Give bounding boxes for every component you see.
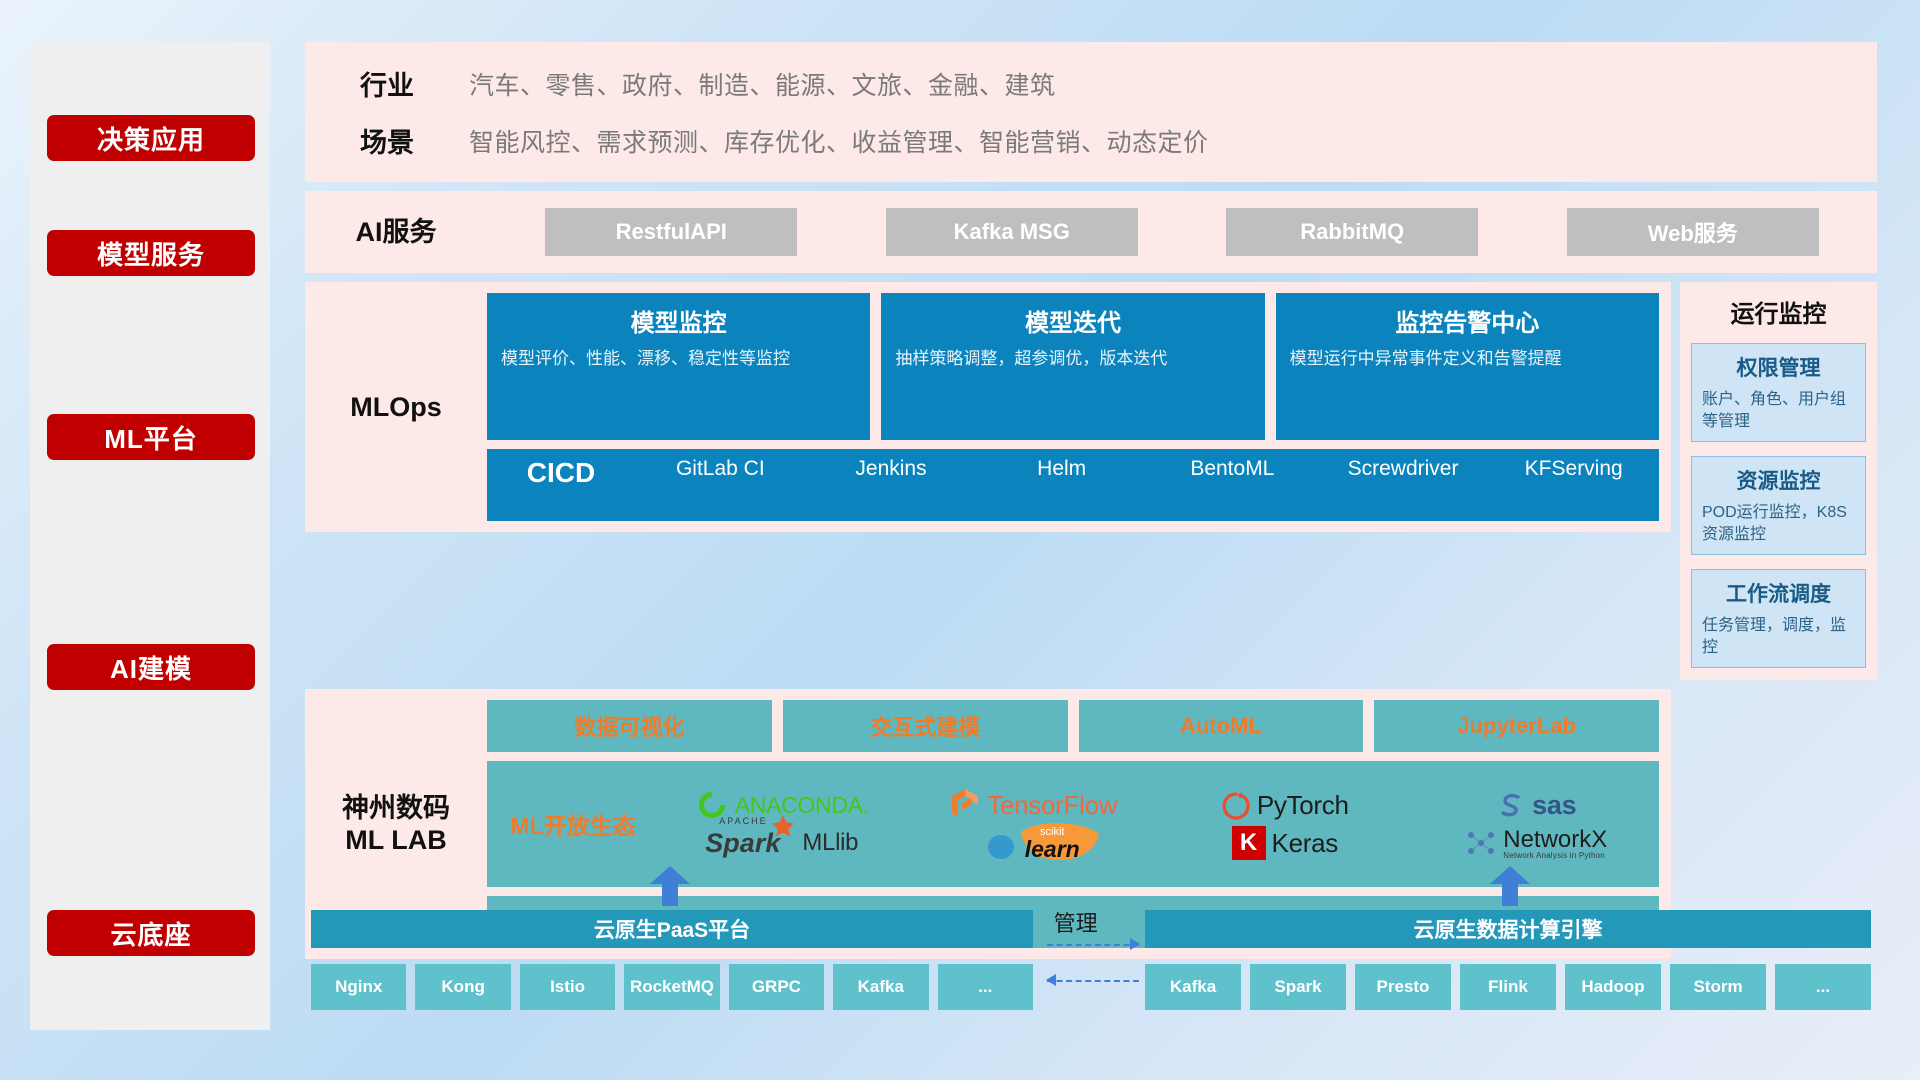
monitor-card-workflow[interactable]: 工作流调度 任务管理，调度，监控 xyxy=(1691,569,1866,668)
compute-chip-presto[interactable]: Presto xyxy=(1355,964,1451,1010)
arrow-up-paas-icon xyxy=(650,866,690,906)
card-title: 模型迭代 xyxy=(895,303,1250,338)
monitor-card-resource[interactable]: 资源监控 POD运行监控，K8S资源监控 xyxy=(1691,456,1866,555)
rail-tag-ml-platform[interactable]: ML平台 xyxy=(47,414,255,460)
architecture-diagram: 决策应用 模型服务 ML平台 AI建模 云底座 行业 汽车、零售、政府、制造、能… xyxy=(0,0,1920,1080)
card-title: 权限管理 xyxy=(1702,352,1855,382)
dashed-arrow-right-icon xyxy=(1130,938,1140,950)
compute-chip-more[interactable]: ... xyxy=(1775,964,1871,1010)
rail-tag-cloud-base[interactable]: 云底座 xyxy=(47,910,255,956)
service-chip-label: RabbitMQ xyxy=(1300,219,1404,245)
ai-service-band: AI服务 RestfulAPI Kafka MSG RabbitMQ Web服务 xyxy=(305,191,1877,273)
industry-key: 行业 xyxy=(305,64,469,103)
cicd-tool-screwdriver[interactable]: Screwdriver xyxy=(1318,457,1489,482)
keras-wordmark: Keras xyxy=(1272,828,1338,859)
sas-logo: sas xyxy=(1496,790,1576,821)
tensorflow-logo: TensorFlow xyxy=(949,787,1117,823)
sas-mark-icon xyxy=(1496,790,1526,820)
rail-tag-decision-app[interactable]: 决策应用 xyxy=(47,115,255,161)
compute-chip-spark[interactable]: Spark xyxy=(1250,964,1346,1010)
scenario-key: 场景 xyxy=(305,121,469,160)
rail-tag-label: 云底座 xyxy=(110,915,191,952)
main-column: 行业 汽车、零售、政府、制造、能源、文旅、金融、建筑 场景 智能风控、需求预测、… xyxy=(305,42,1877,959)
anaconda-wordmark: ANACONDA. xyxy=(735,792,869,819)
paas-compute-link xyxy=(1047,934,1139,994)
paas-chip-more[interactable]: ... xyxy=(938,964,1033,1010)
tensorflow-wordmark: TensorFlow xyxy=(987,790,1117,821)
paas-chips: Nginx Kong Istio RocketMQ GRPC Kafka ... xyxy=(311,964,1033,1010)
paas-title-bar: 云原生PaaS平台 xyxy=(311,910,1033,948)
dashed-line-right xyxy=(1047,944,1139,946)
cloud-base-layer: 云原生PaaS平台 Nginx Kong Istio RocketMQ GRPC… xyxy=(305,888,1877,1030)
learn-wordmark: learn xyxy=(1025,838,1080,861)
runtime-monitoring-title: 运行监控 xyxy=(1691,294,1866,329)
scenario-values: 智能风控、需求预测、库存优化、收益管理、智能营销、动态定价 xyxy=(469,123,1209,159)
paas-chip-nginx[interactable]: Nginx xyxy=(311,964,406,1010)
tab-data-visualization[interactable]: 数据可视化 xyxy=(487,700,772,752)
paas-column: 云原生PaaS平台 Nginx Kong Istio RocketMQ GRPC… xyxy=(311,910,1033,1010)
rail-tag-label: ML平台 xyxy=(104,419,198,456)
cicd-tool-kfserving[interactable]: KFServing xyxy=(1488,457,1659,482)
spark-mllib-logo: APACHE Spark MLlib xyxy=(705,828,858,859)
tab-interactive-modeling[interactable]: 交互式建模 xyxy=(783,700,1068,752)
card-desc: 模型运行中异常事件定义和告警提醒 xyxy=(1290,347,1645,371)
mlops-label: MLOps xyxy=(305,293,487,521)
rail-tag-label: 模型服务 xyxy=(97,235,205,272)
paas-chip-kafka[interactable]: Kafka xyxy=(833,964,928,1010)
runtime-monitoring-column: 运行监控 权限管理 账户、角色、用户组等管理 资源监控 POD运行监控，K8S资… xyxy=(1680,282,1877,680)
cicd-tool-helm[interactable]: Helm xyxy=(976,457,1147,482)
ml-open-ecosystem-label: ML开放生态 xyxy=(487,807,659,841)
mlops-card-model-iteration[interactable]: 模型迭代 抽样策略调整，超参调优，版本迭代 xyxy=(881,293,1264,440)
paas-chip-kong[interactable]: Kong xyxy=(415,964,510,1010)
mlops-card-alert-center[interactable]: 监控告警中心 模型运行中异常事件定义和告警提醒 xyxy=(1276,293,1659,440)
cicd-heading: CICD xyxy=(487,457,635,489)
mlops-row: MLOps 模型监控 模型评价、性能、漂移、稳定性等监控 模型迭代 抽样策略调整… xyxy=(305,282,1877,680)
compute-chip-kafka[interactable]: Kafka xyxy=(1145,964,1241,1010)
decision-rows: 行业 汽车、零售、政府、制造、能源、文旅、金融、建筑 场景 智能风控、需求预测、… xyxy=(305,42,1877,182)
mlops-content: 模型监控 模型评价、性能、漂移、稳定性等监控 模型迭代 抽样策略调整，超参调优，… xyxy=(487,293,1671,521)
card-title: 监控告警中心 xyxy=(1290,303,1645,338)
mllib-wordmark: MLlib xyxy=(802,829,858,857)
cicd-tool-bentoml[interactable]: BentoML xyxy=(1147,457,1318,482)
pytorch-flame-icon xyxy=(1221,788,1251,822)
paas-chip-grpc[interactable]: GRPC xyxy=(729,964,824,1010)
compute-chips: Kafka Spark Presto Flink Hadoop Storm ..… xyxy=(1145,964,1871,1010)
card-desc: 任务管理，调度，监控 xyxy=(1702,615,1855,659)
scenario-row: 场景 智能风控、需求预测、库存优化、收益管理、智能营销、动态定价 xyxy=(305,121,1859,160)
networkx-logo: NetworkX Network Analysis in Python xyxy=(1465,827,1607,861)
ml-lab-tabs: 数据可视化 交互式建模 AutoML JupyterLab xyxy=(487,700,1659,752)
tensorflow-mark-icon xyxy=(949,787,981,823)
cicd-tool-jenkins[interactable]: Jenkins xyxy=(806,457,977,482)
dashed-line-left xyxy=(1047,980,1139,982)
decision-application-band: 行业 汽车、零售、政府、制造、能源、文旅、金融、建筑 场景 智能风控、需求预测、… xyxy=(305,42,1877,182)
networkx-tagline: Network Analysis in Python xyxy=(1503,852,1607,860)
service-chip-restfulapi[interactable]: RestfulAPI xyxy=(545,208,797,256)
service-chip-web-service[interactable]: Web服务 xyxy=(1567,208,1819,256)
card-title: 模型监控 xyxy=(501,303,856,338)
networkx-wordmark: NetworkX xyxy=(1503,827,1607,852)
service-chip-label: RestfulAPI xyxy=(616,219,727,245)
ai-service-items: RestfulAPI Kafka MSG RabbitMQ Web服务 xyxy=(487,208,1877,256)
keras-mark-icon: K xyxy=(1232,826,1266,860)
rail-tag-model-service[interactable]: 模型服务 xyxy=(47,230,255,276)
card-desc: POD运行监控，K8S资源监控 xyxy=(1702,502,1855,546)
cicd-strip: CICD GitLab CI Jenkins Helm BentoML Scre… xyxy=(487,449,1659,521)
ecosystem-logo-grid: ANACONDA. TensorFlow xyxy=(659,787,1659,861)
service-chip-label: Web服务 xyxy=(1648,216,1738,248)
card-title: 工作流调度 xyxy=(1702,578,1855,608)
industry-row: 行业 汽车、零售、政府、制造、能源、文旅、金融、建筑 xyxy=(305,64,1859,103)
monitor-card-permission[interactable]: 权限管理 账户、角色、用户组等管理 xyxy=(1691,343,1866,442)
dashed-arrow-left-icon xyxy=(1046,974,1056,986)
runtime-monitoring-cards: 权限管理 账户、角色、用户组等管理 资源监控 POD运行监控，K8S资源监控 工… xyxy=(1691,343,1866,668)
tab-jupyterlab[interactable]: JupyterLab xyxy=(1374,700,1659,752)
scikit-learn-logo: scikit learn xyxy=(987,825,1080,861)
tab-automl[interactable]: AutoML xyxy=(1079,700,1364,752)
service-chip-kafka-msg[interactable]: Kafka MSG xyxy=(886,208,1138,256)
rail-tag-label: 决策应用 xyxy=(97,120,205,157)
ml-lab-label-line2: ML LAB xyxy=(345,824,447,857)
service-chip-rabbitmq[interactable]: RabbitMQ xyxy=(1226,208,1478,256)
keras-logo: K Keras xyxy=(1232,826,1338,860)
paas-chip-istio[interactable]: Istio xyxy=(520,964,615,1010)
rail-tag-ai-modeling[interactable]: AI建模 xyxy=(47,644,255,690)
cicd-tools: GitLab CI Jenkins Helm BentoML Screwdriv… xyxy=(635,457,1659,482)
sas-wordmark: sas xyxy=(1532,790,1576,821)
layer-rail: 决策应用 模型服务 ML平台 AI建模 云底座 xyxy=(30,42,270,1030)
industry-values: 汽车、零售、政府、制造、能源、文旅、金融、建筑 xyxy=(469,66,1056,102)
spark-wordmark: Spark xyxy=(705,828,780,858)
card-title: 资源监控 xyxy=(1702,465,1855,495)
pytorch-wordmark: PyTorch xyxy=(1257,790,1349,821)
spark-star-icon xyxy=(770,814,796,840)
mlops-card-model-monitoring[interactable]: 模型监控 模型评价、性能、漂移、稳定性等监控 xyxy=(487,293,870,440)
card-desc: 抽样策略调整，超参调优，版本迭代 xyxy=(895,347,1250,371)
card-desc: 账户、角色、用户组等管理 xyxy=(1702,389,1855,433)
compute-title-bar: 云原生数据计算引擎 xyxy=(1145,910,1871,948)
arrow-up-compute-icon xyxy=(1490,866,1530,906)
card-desc: 模型评价、性能、漂移、稳定性等监控 xyxy=(501,347,856,371)
compute-engine-column: 云原生数据计算引擎 Kafka Spark Presto Flink Hadoo… xyxy=(1145,910,1871,1010)
networkx-graph-icon xyxy=(1465,828,1497,858)
paas-chip-rocketmq[interactable]: RocketMQ xyxy=(624,964,719,1010)
rail-tag-label: AI建模 xyxy=(110,649,192,686)
compute-chip-storm[interactable]: Storm xyxy=(1670,964,1766,1010)
spark-apache-text: APACHE xyxy=(719,816,767,826)
ai-service-label: AI服务 xyxy=(305,216,487,249)
compute-chip-hadoop[interactable]: Hadoop xyxy=(1565,964,1661,1010)
mlops-cards: 模型监控 模型评价、性能、漂移、稳定性等监控 模型迭代 抽样策略调整，超参调优，… xyxy=(487,293,1659,440)
ml-lab-label-line1: 神州数码 xyxy=(342,792,450,825)
service-chip-label: Kafka MSG xyxy=(954,219,1070,245)
cicd-tool-gitlab-ci[interactable]: GitLab CI xyxy=(635,457,806,482)
pytorch-logo: PyTorch xyxy=(1221,788,1349,822)
mlops-band: MLOps 模型监控 模型评价、性能、漂移、稳定性等监控 模型迭代 抽样策略调整… xyxy=(305,282,1671,532)
compute-chip-flink[interactable]: Flink xyxy=(1460,964,1556,1010)
